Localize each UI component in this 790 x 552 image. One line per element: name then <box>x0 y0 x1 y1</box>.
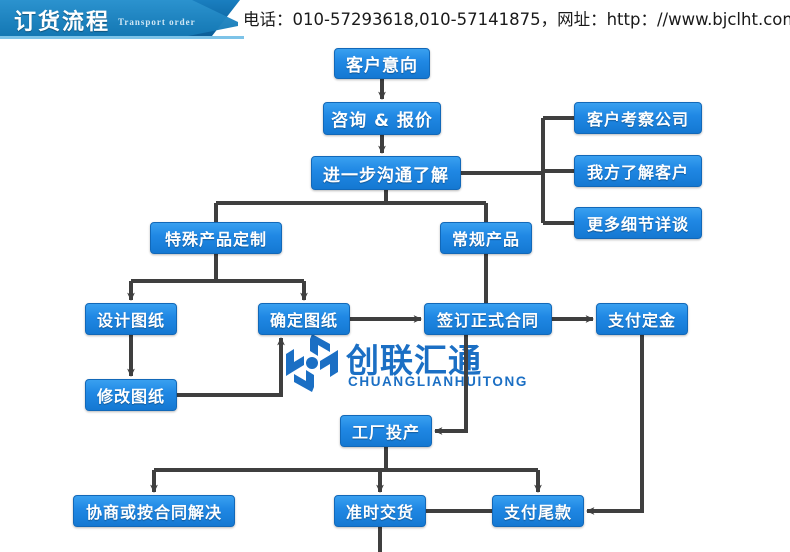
page-header: 订货流程 Transport order 电话：010-57293618,010… <box>0 0 790 42</box>
flow-node-n12[interactable]: 支付定金 <box>596 303 688 335</box>
contact-info: 电话：010-57293618,010-57141875，网址：http：//w… <box>243 6 790 30</box>
flow-node-n5[interactable]: 我方了解客户 <box>574 155 702 187</box>
flow-node-n2[interactable]: 咨询 & 报价 <box>323 102 441 135</box>
flow-node-n10[interactable]: 确定图纸 <box>258 303 350 335</box>
header-underline <box>0 36 244 39</box>
flow-node-n4[interactable]: 客户考察公司 <box>574 102 702 134</box>
edge-n12-n17 <box>587 335 642 511</box>
edge-n13-n14-feedback <box>177 338 281 395</box>
flow-node-n15[interactable]: 协商或按合同解决 <box>73 495 235 527</box>
order-process-flowchart-page: 订货流程 Transport order 电话：010-57293618,010… <box>0 0 790 552</box>
flow-node-n9[interactable]: 设计图纸 <box>85 303 177 335</box>
flowchart-canvas: 创联汇通 CHUANGLIANHUITONG <box>0 42 790 552</box>
edge-n11-n14 <box>435 335 466 431</box>
flow-node-n3[interactable]: 进一步沟通了解 <box>311 156 461 190</box>
page-title: 订货流程 <box>14 4 110 36</box>
flow-node-n11[interactable]: 签订正式合同 <box>424 303 552 335</box>
flow-node-n6[interactable]: 更多细节详谈 <box>574 207 702 239</box>
flow-node-n7[interactable]: 特殊产品定制 <box>150 222 282 254</box>
flow-node-n13[interactable]: 修改图纸 <box>85 379 177 411</box>
flow-node-n16[interactable]: 准时交货 <box>334 495 426 527</box>
flow-node-n8[interactable]: 常规产品 <box>440 222 532 254</box>
flow-node-n14[interactable]: 工厂投产 <box>340 415 432 447</box>
flow-node-n17[interactable]: 支付尾款 <box>492 495 584 527</box>
page-subtitle: Transport order <box>118 17 196 27</box>
flow-node-n1[interactable]: 客户意向 <box>334 48 430 79</box>
